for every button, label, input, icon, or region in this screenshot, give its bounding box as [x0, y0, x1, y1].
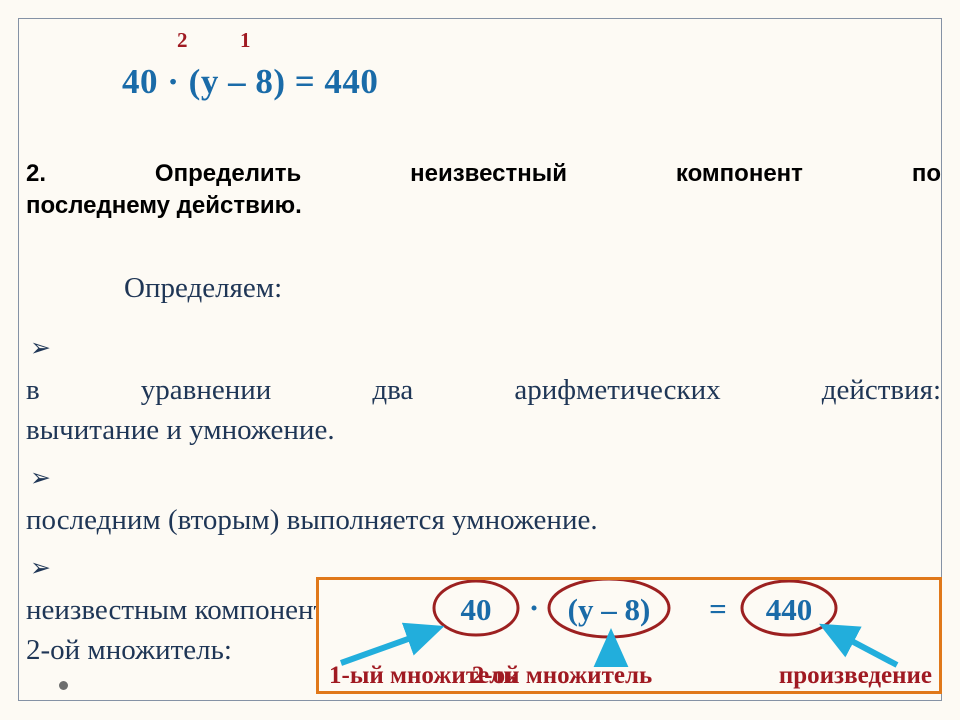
arrow-bullet-icon: ➢ [30, 331, 64, 365]
main-equation: 40 · (y – 8) = 440 [122, 62, 378, 102]
equation-order-markers: 2 1 [122, 28, 422, 58]
empty-bullet-dot [59, 681, 68, 690]
list-item-text: в уравнении два арифметических действия:… [26, 370, 941, 450]
slide-canvas: 2 1 40 · (y – 8) = 440 2. Определить неи… [0, 0, 960, 720]
arrow-to-product [827, 628, 897, 665]
arrow-bullet-icon: ➢ [30, 551, 64, 585]
list-item-line-1: в уравнении два арифметических действия: [26, 370, 941, 410]
diagram-equals-sign: = [709, 591, 727, 626]
list-item-line-1: последним (вторым) выполняется умножение… [26, 500, 941, 540]
list-item: ➢ в уравнении два арифметических действи… [26, 330, 941, 450]
diagram-term-second: (y – 8) [568, 592, 651, 627]
diagram-operator-dot: · [529, 590, 539, 625]
step-heading-line-1: 2. Определить неизвестный компонент по [26, 158, 941, 190]
equation-parts-diagram: 40 · (y – 8) = 440 1-ый множитель 2-ой м… [316, 577, 942, 694]
diagram-term-first: 40 [461, 592, 492, 627]
label-second-factor: 2-ой множитель [472, 662, 652, 689]
diagram-term-product: 440 [766, 592, 813, 627]
arrow-to-first-factor [341, 629, 436, 663]
label-product: произведение [779, 662, 932, 689]
list-item-line-2: вычитание и умножение. [26, 410, 941, 450]
order-marker-1: 1 [240, 28, 251, 53]
intro-label: Определяем: [124, 272, 282, 305]
arrow-bullet-icon: ➢ [30, 461, 64, 495]
order-marker-2: 2 [177, 28, 188, 53]
step-heading: 2. Определить неизвестный компонент по п… [26, 158, 941, 222]
list-item-text: последним (вторым) выполняется умножение… [26, 500, 941, 540]
step-heading-line-2: последнему действию. [26, 190, 941, 222]
list-item: ➢ последним (вторым) выполняется умножен… [26, 460, 941, 540]
